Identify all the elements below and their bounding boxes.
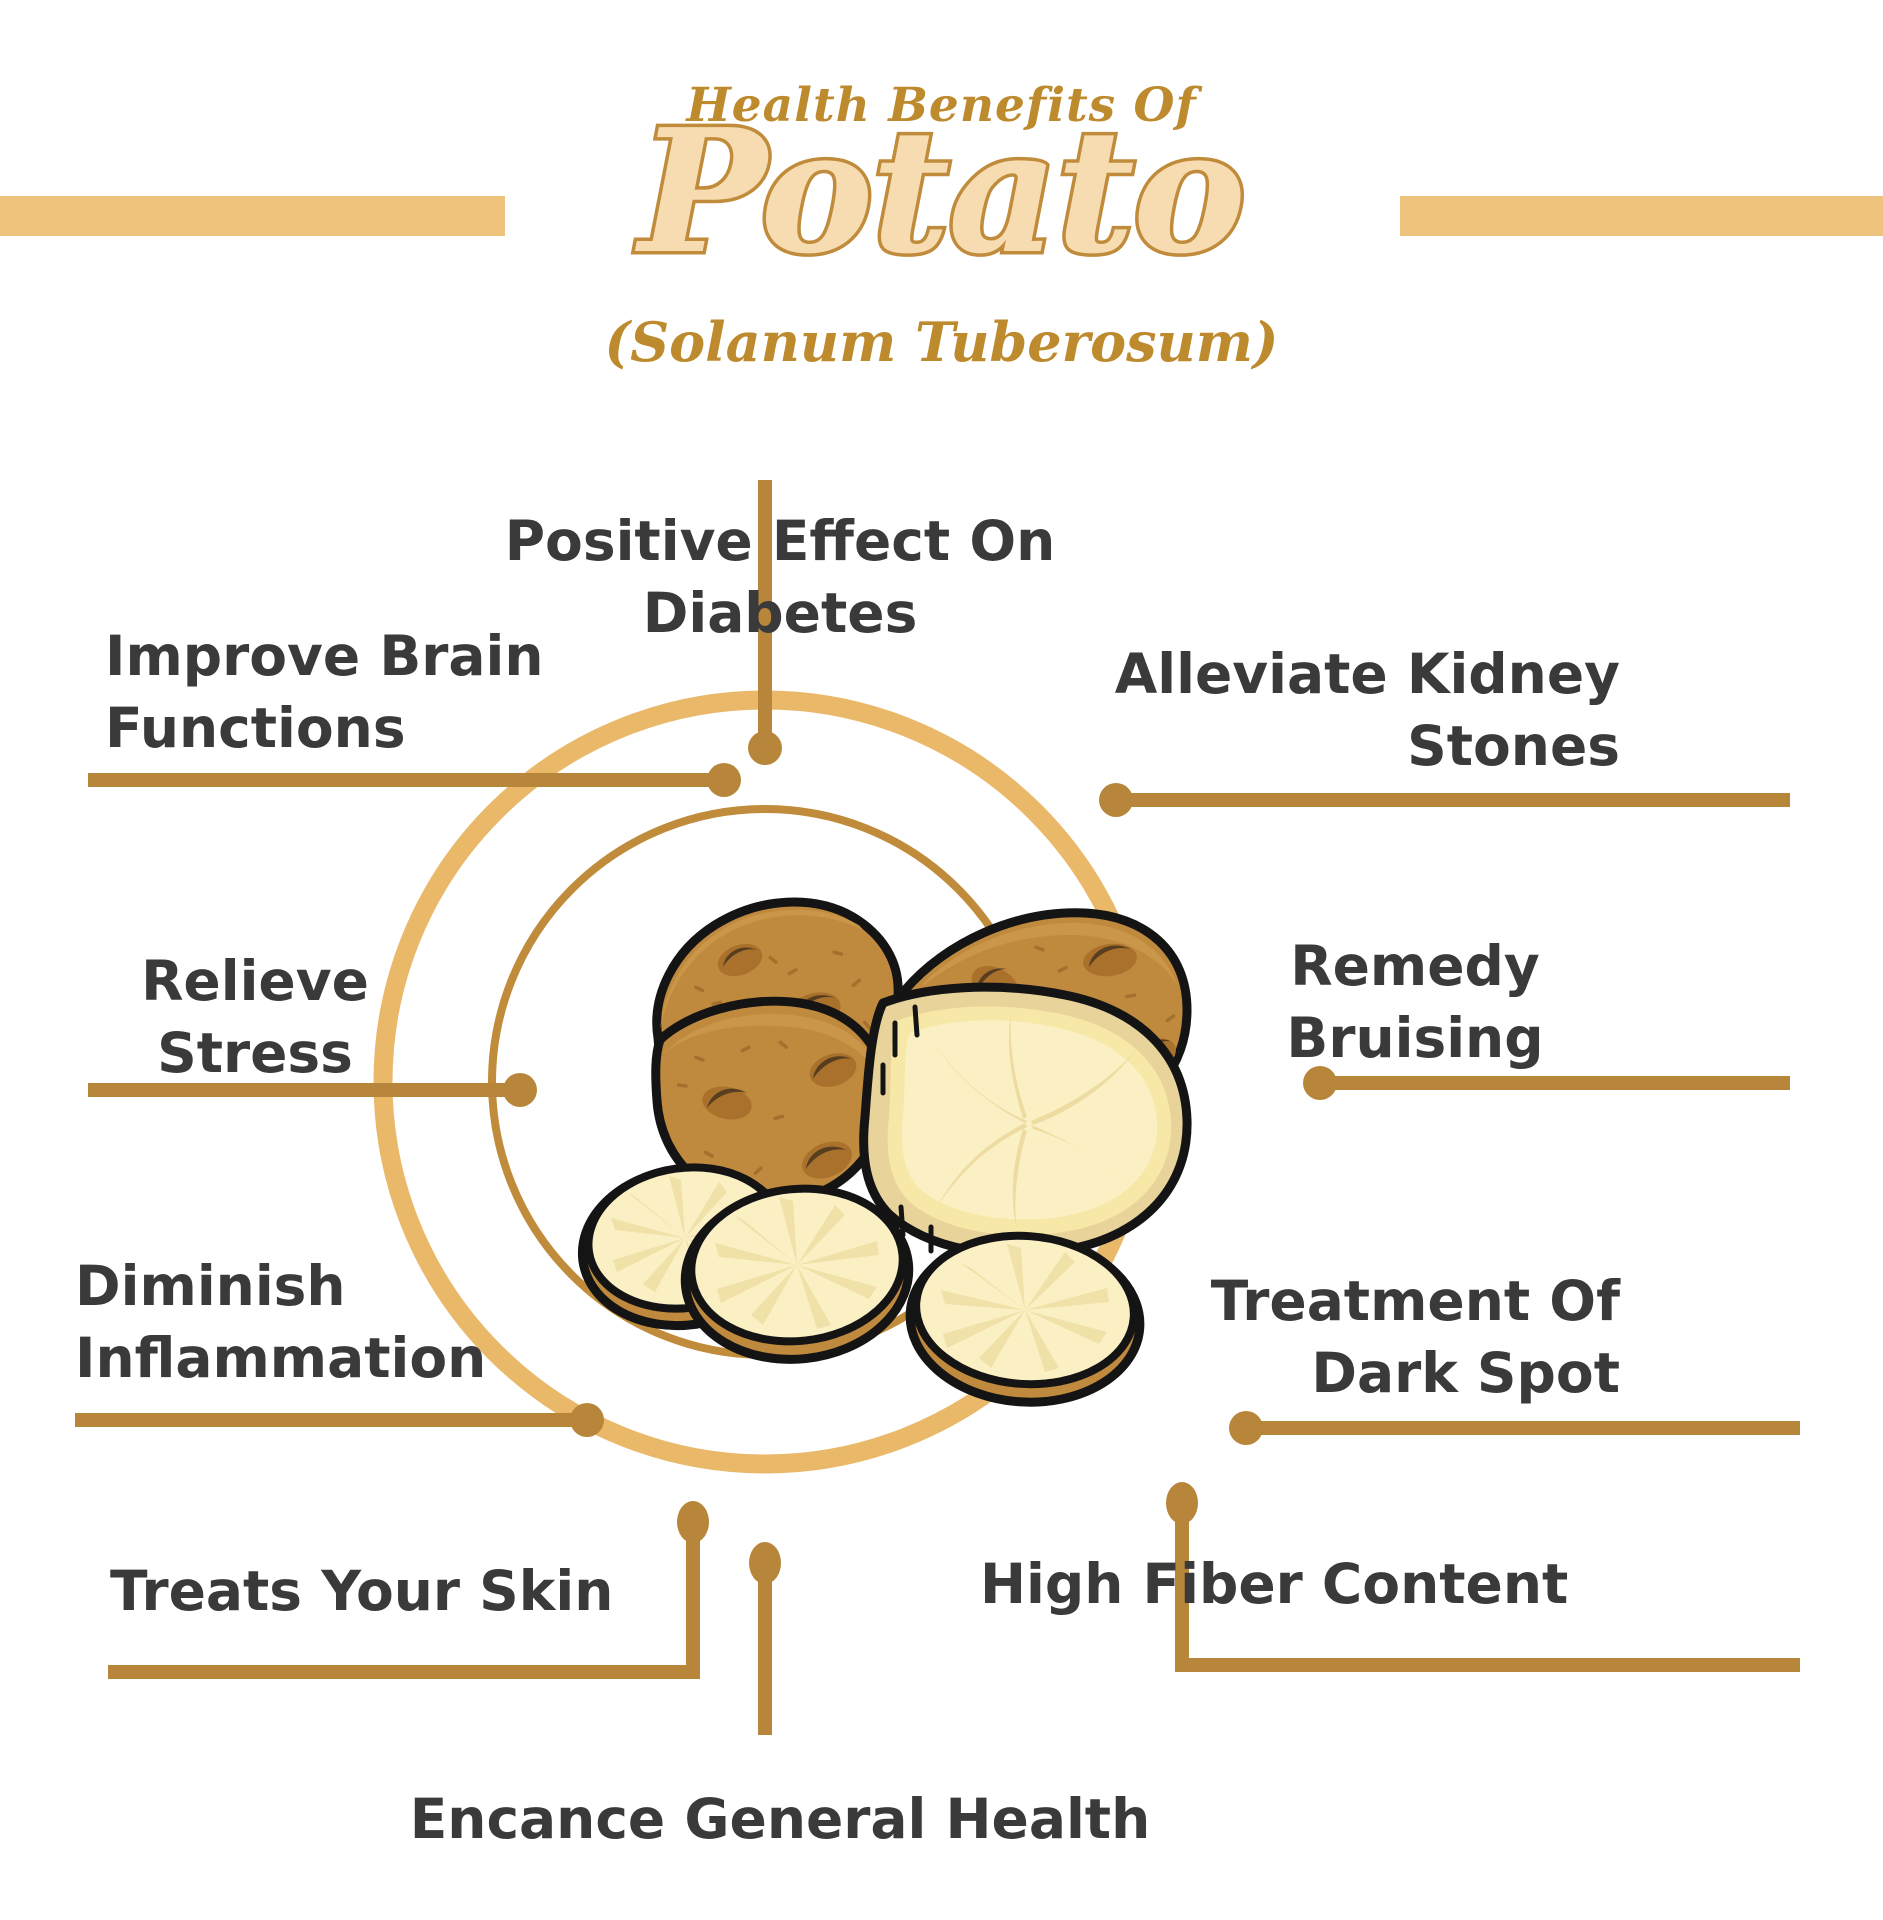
benefit-label-kidney: Alleviate Kidney Stones <box>930 638 1620 782</box>
dot-skin <box>677 1501 709 1543</box>
dot-diabetes <box>748 731 782 765</box>
connector-dots <box>503 731 1337 1584</box>
dot-inflammation <box>570 1403 604 1437</box>
benefit-label-general: Encance General Health <box>380 1783 1180 1855</box>
benefit-label-inflammation: Diminish Inflammation <box>75 1250 595 1394</box>
benefit-label-brain: Improve Brain Functions <box>105 620 625 764</box>
benefit-label-dark-spot: Treatment Of Dark Spot <box>1080 1265 1620 1409</box>
dot-general <box>749 1542 781 1584</box>
benefit-label-bruising: Remedy Bruising <box>1240 930 1590 1074</box>
benefit-label-fiber: High Fiber Content <box>980 1548 1620 1620</box>
dot-darkspot <box>1229 1411 1263 1445</box>
dot-stress <box>503 1073 537 1107</box>
dot-kidney <box>1099 783 1133 817</box>
benefit-label-stress: Relieve Stress <box>75 945 435 1089</box>
benefit-label-skin: Treats Your Skin <box>110 1555 670 1627</box>
benefits-diagram: Positive Effect On Diabetes Improve Brai… <box>0 0 1883 1920</box>
dot-fiber <box>1166 1482 1198 1524</box>
dot-brain <box>707 763 741 797</box>
